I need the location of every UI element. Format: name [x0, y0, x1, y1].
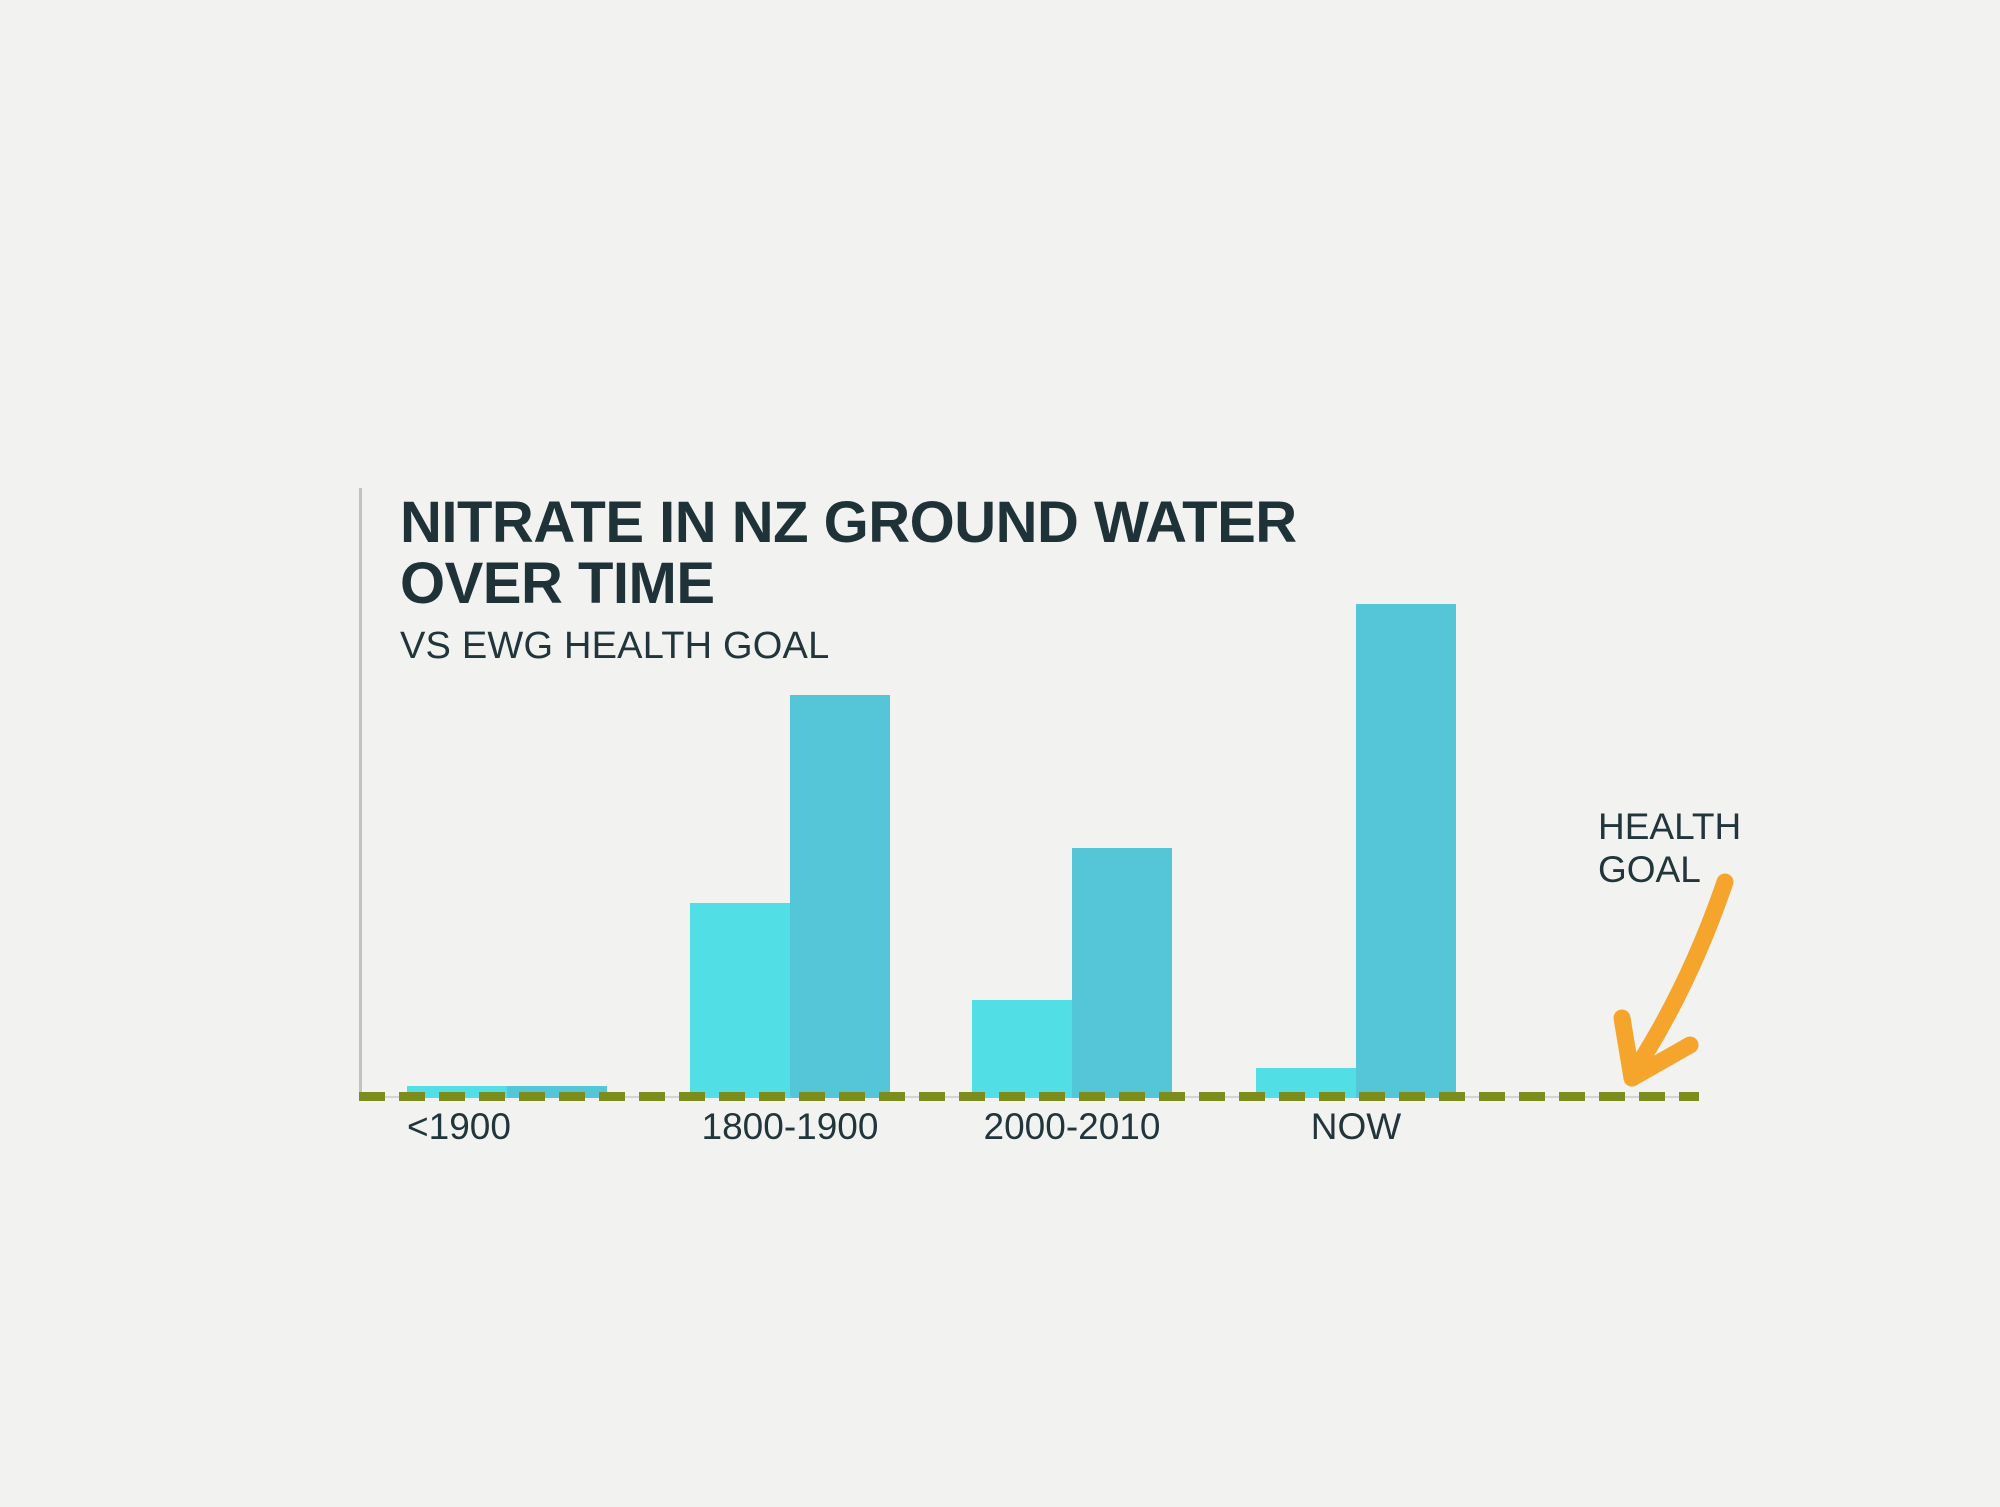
chart-canvas: NITRATE IN NZ GROUND WATER OVER TIME VS …	[0, 0, 2000, 1507]
bar-group	[972, 488, 1172, 1098]
y-axis-line	[359, 488, 362, 1098]
category-label: 2000-2010	[984, 1106, 1161, 1148]
category-label: NOW	[1311, 1106, 1401, 1148]
health-goal-dashed-line	[359, 1092, 1699, 1101]
bar-group	[1256, 488, 1456, 1098]
bar-group	[407, 488, 607, 1098]
bar[interactable]	[1072, 848, 1172, 1098]
bar-group	[690, 488, 890, 1098]
bar[interactable]	[972, 1000, 1072, 1098]
category-label: <1900	[407, 1106, 511, 1148]
bar[interactable]	[790, 695, 890, 1098]
health-goal-label: HEALTH GOAL	[1598, 805, 1741, 892]
plot-area: <19001800-19002000-2010NOW	[359, 488, 1679, 1098]
bar[interactable]	[1356, 604, 1456, 1098]
category-label: 1800-1900	[702, 1106, 879, 1148]
bar[interactable]	[690, 903, 790, 1098]
